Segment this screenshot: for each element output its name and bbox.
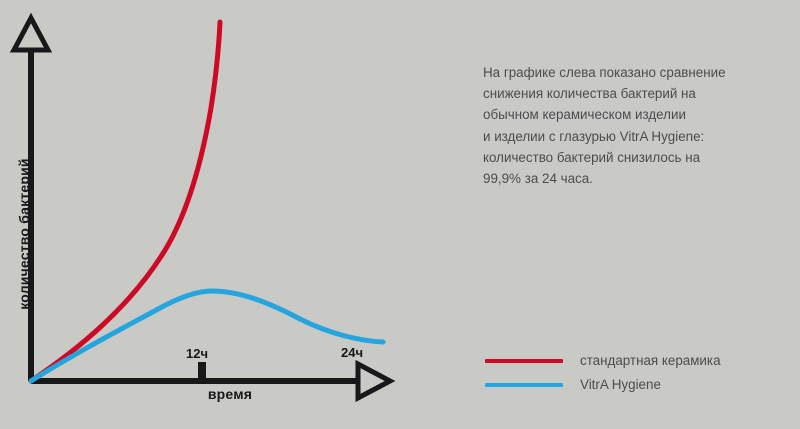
description-line: обычном керамическом изделии bbox=[483, 104, 793, 125]
y-axis-title: количество бактерий bbox=[16, 124, 32, 344]
legend-item-standard-ceramic: стандартная керамика bbox=[485, 350, 785, 374]
legend-swatch-vitra-hygiene bbox=[485, 383, 563, 387]
description-line: На графике слева показано сравнение bbox=[483, 62, 793, 83]
legend-label-vitra-hygiene: VitrA Hygiene bbox=[580, 374, 661, 395]
y-axis-arrowhead-icon bbox=[14, 18, 48, 50]
x-tick-label-12h: 12ч bbox=[186, 346, 208, 361]
x-axis-arrowhead-icon bbox=[358, 364, 390, 398]
x-tick-label-24h: 24ч bbox=[341, 345, 363, 360]
description-line: и изделии с глазурью VitrA Hygiene: bbox=[483, 126, 793, 147]
chart-legend: стандартная керамика VitrA Hygiene bbox=[485, 350, 785, 398]
description-line: 99,9% за 24 часа. bbox=[483, 168, 793, 189]
legend-item-vitra-hygiene: VitrA Hygiene bbox=[485, 374, 785, 398]
series-line-vitra-hygiene bbox=[31, 291, 383, 381]
chart-canvas: количество бактерий время 12ч 24ч На гра… bbox=[0, 0, 800, 429]
description-text: На графике слева показано сравнение сниж… bbox=[483, 62, 793, 189]
x-tick-12h bbox=[198, 362, 206, 381]
legend-label-standard-ceramic: стандартная керамика bbox=[580, 350, 721, 371]
legend-swatch-standard-ceramic bbox=[485, 359, 563, 363]
description-line: количество бактерий снизилось на bbox=[483, 147, 793, 168]
description-line: снижения количества бактерий на bbox=[483, 83, 793, 104]
x-axis-title: время bbox=[170, 386, 290, 402]
